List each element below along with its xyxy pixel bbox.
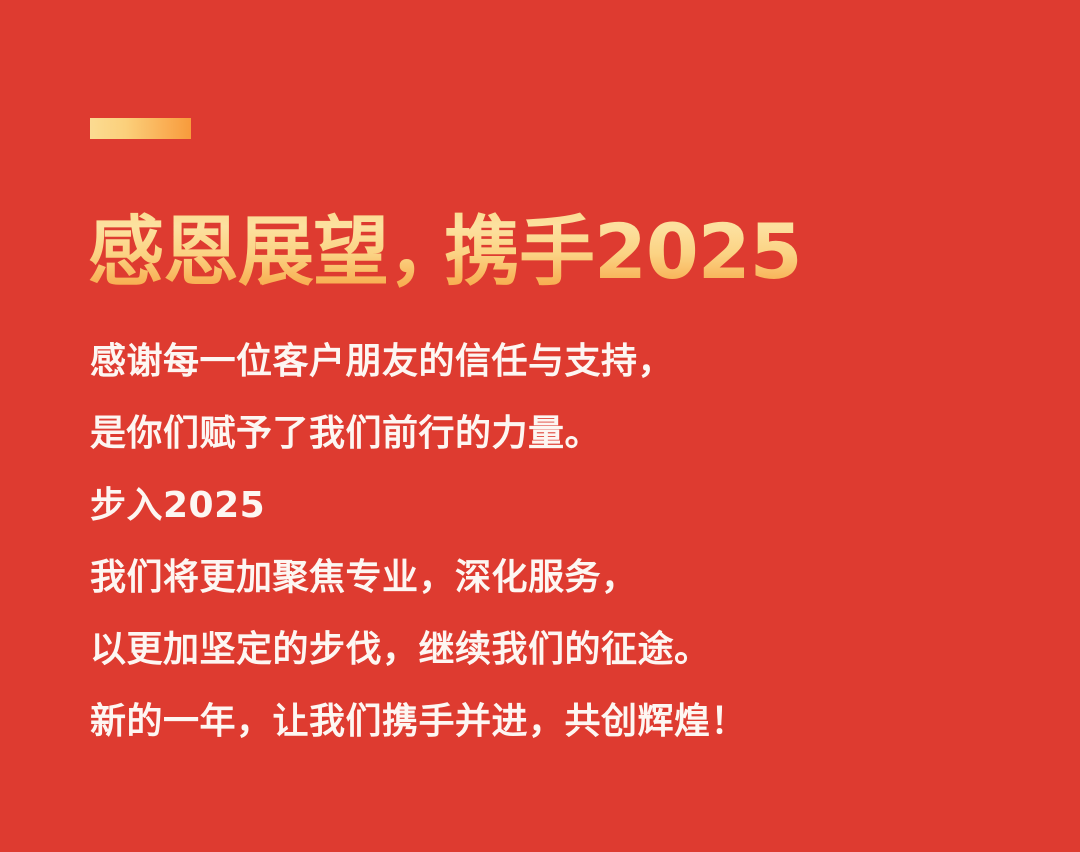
message-line: 我们将更加聚焦专业，深化服务， [90, 542, 990, 614]
page-title-segment-2: 携手2025 [444, 207, 802, 296]
page-title-comma: ， [388, 207, 450, 296]
greeting-poster: 感恩展望，携手2025 感谢每一位客户朋友的信任与支持， 是你们赋予了我们前行的… [0, 0, 1080, 852]
page-title: 感恩展望，携手2025 [88, 206, 802, 298]
message-line: 感谢每一位客户朋友的信任与支持， [90, 326, 990, 398]
message-body: 感谢每一位客户朋友的信任与支持， 是你们赋予了我们前行的力量。 步入2025 我… [90, 326, 990, 758]
message-line: 步入2025 [90, 470, 990, 542]
page-title-segment-1: 感恩展望 [88, 207, 388, 296]
decorative-gradient-bar [90, 118, 191, 139]
message-line: 是你们赋予了我们前行的力量。 [90, 398, 990, 470]
message-line: 以更加坚定的步伐，继续我们的征途。 [90, 614, 990, 686]
message-line: 新的一年，让我们携手并进，共创辉煌！ [90, 686, 990, 758]
